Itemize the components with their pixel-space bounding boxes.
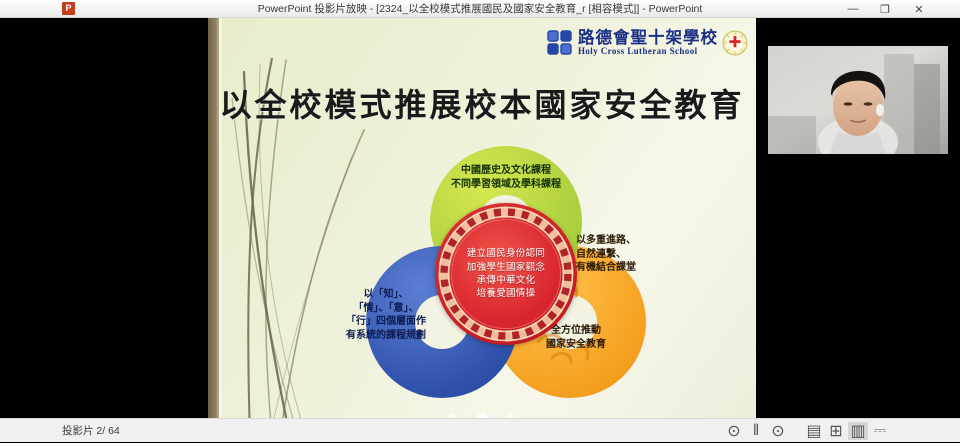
venn-label-top-line-2: 不同學習領域及學科課程: [406, 178, 606, 192]
slide-title: 以全校模式推展校本國家安全教育: [208, 80, 756, 126]
webcam-person: [768, 46, 948, 154]
cross-seal-icon: [722, 30, 748, 56]
media-previous-button[interactable]: ⊙: [724, 422, 744, 440]
venn-label-bottom-line-2: 國家安全教育: [546, 338, 606, 352]
status-bar-buttons: ⊙ ‖ ⊙ ▤ ⊞ ▥ ⎓: [724, 419, 890, 443]
slide-counter: 投影片 2/ 64: [62, 423, 120, 438]
normal-view-button[interactable]: ▤: [804, 422, 824, 440]
school-logo: 路德會聖十架學校 Holy Cross Lutheran School: [546, 24, 748, 62]
school-name-en: Holy Cross Lutheran School: [578, 47, 718, 56]
venn-label-top-line-1: 中國歷史及文化課程: [406, 164, 606, 178]
slideshow-button[interactable]: ⎓: [870, 422, 890, 440]
venn-label-right-line-3: 有機結合課堂: [576, 261, 636, 275]
venn-label-top: 中國歷史及文化課程 不同學習領域及學科課程: [406, 164, 606, 191]
three-ring-venn-diagram: 建立國民身份認同 加強學生國家觀念 承傳中華文化 培養愛國情操 中國歷史及文化課…: [366, 146, 646, 396]
venn-label-right: 以多重進路、 自然連繫、 有機結合課堂: [576, 234, 636, 275]
status-bar[interactable]: 投影片 2/ 64 ⊙ ‖ ⊙ ▤ ⊞ ▥ ⎓: [0, 418, 960, 442]
venn-label-left-line-1: 以「知」、: [346, 288, 426, 302]
minimize-button[interactable]: —: [838, 0, 868, 18]
close-button[interactable]: ✕: [904, 0, 934, 18]
reading-view-button[interactable]: ▥: [848, 422, 868, 440]
venn-label-left: 以「知」、 「情」、「意」、 「行」四個層面作 有系統的課程規劃: [346, 288, 426, 342]
window-titlebar[interactable]: P PowerPoint 投影片放映 - [2324_以全校模式推展國民及國家安…: [0, 0, 960, 18]
media-pause-button[interactable]: ‖: [746, 422, 766, 440]
venn-label-right-line-1: 以多重進路、: [576, 234, 636, 248]
four-squares-icon: [546, 29, 574, 57]
venn-label-left-line-4: 有系統的課程規劃: [346, 329, 426, 343]
window-title: PowerPoint 投影片放映 - [2324_以全校模式推展國民及國家安全教…: [0, 0, 960, 18]
slide-canvas[interactable]: 路德會聖十架學校 Holy Cross Lutheran School 以全校模…: [208, 18, 756, 436]
venn-label-right-line-2: 自然連繫、: [576, 248, 636, 262]
slide-sorter-button[interactable]: ⊞: [826, 422, 846, 440]
webcam-video-feed[interactable]: [768, 46, 948, 154]
venn-label-bottom-line-1: 全方位推動: [546, 324, 606, 338]
venn-label-left-line-3: 「行」四個層面作: [346, 315, 426, 329]
webcam-overlay[interactable]: [756, 36, 960, 164]
school-name-cn: 路德會聖十架學校: [578, 30, 718, 47]
slideshow-backdrop[interactable]: 路德會聖十架學校 Holy Cross Lutheran School 以全校模…: [0, 18, 960, 418]
venn-label-bottom: 全方位推動 國家安全教育: [546, 324, 606, 351]
venn-label-left-line-2: 「情」、「意」、: [346, 302, 426, 316]
restore-button[interactable]: ❐: [870, 0, 900, 18]
media-next-button[interactable]: ⊙: [768, 422, 788, 440]
